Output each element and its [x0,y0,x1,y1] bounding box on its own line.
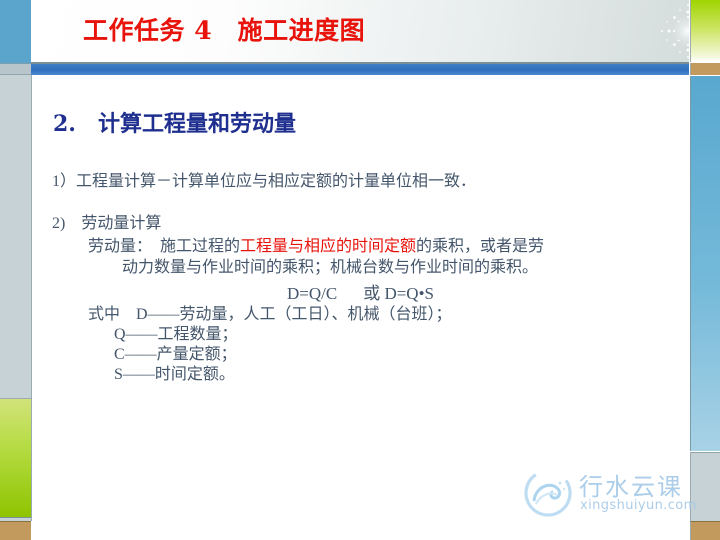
bottom-left-tan-block [0,521,31,540]
slide-canvas: 工作任务 4 施工进度图 2. 计算工程量和劳动量 1）工程量计算－计算单位应与… [0,0,720,540]
right-accent-band-gray [690,452,720,521]
formula-line: D=Q/C或 D=Q•S [32,279,689,304]
section-heading: 2. 计算工程量和劳动量 [53,106,296,138]
paragraph-lead: 劳动量： 施工过程的 [88,238,240,255]
labor-definition-paragraph: 劳动量： 施工过程的工程量与相应的时间定额的乘积，或者是劳 动力数量与作业时间的… [88,236,688,278]
left-accent-band-green [0,398,32,517]
slide-header: 工作任务 4 施工进度图 [31,0,689,62]
bullet-line-2: 2) 劳动量计算 [52,214,161,234]
formula-left: D=Q/C [287,284,337,303]
header-rule-blue [31,64,689,75]
formula-conjunction: 或 [363,284,380,303]
right-accent-band-tan [690,63,720,75]
symbol-definitions: 式中 D——劳动量，人工（工日）、机械（台班）； Q——工程数量； C——产量定… [88,305,452,385]
paragraph-continuation: 动力数量与作业时间的乘积；机械台数与作业时间的乘积。 [88,257,688,278]
left-accent-band-gray-thin [0,64,31,75]
paragraph-highlight: 工程量与相应的时间定额 [240,238,416,255]
formula-right: D=Q•S [384,284,434,303]
left-accent-band-blue [0,0,31,64]
definition-row-d: 式中 D——劳动量，人工（工日）、机械（台班）； [88,305,452,325]
right-accent-band-green [690,0,720,62]
slide-title: 工作任务 4 施工进度图 [83,11,365,47]
right-accent-band-blue [690,76,720,451]
slide-body: 2. 计算工程量和劳动量 1）工程量计算－计算单位应与相应定额的计量单位相一致．… [32,76,689,520]
bottom-strip [31,521,689,540]
definition-row-c: C——产量定额； [88,345,452,365]
definition-row-s: S——时间定额。 [88,365,452,385]
right-accent-band-tan-bottom [690,521,720,540]
paragraph-tail: 的乘积，或者是劳 [416,238,544,255]
left-accent-band-gray [0,75,32,398]
bullet-line-1: 1）工程量计算－计算单位应与相应定额的计量单位相一致． [52,172,476,192]
definition-row-q: Q——工程数量； [88,325,452,345]
